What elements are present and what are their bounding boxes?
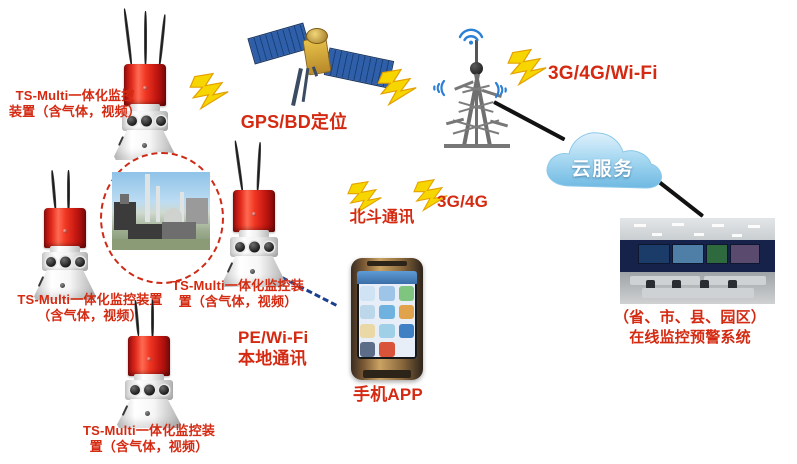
video-wall-panel	[706, 244, 728, 264]
ceiling-light	[732, 234, 742, 237]
app-icon[interactable]	[399, 305, 415, 319]
ceiling-light	[672, 223, 684, 226]
app-icon[interactable]	[360, 286, 376, 300]
solar-panel-left	[247, 23, 310, 65]
ceiling-light	[694, 233, 704, 236]
sensor-port-icon	[130, 385, 140, 395]
cloud-service-icon: 云服务	[538, 120, 668, 194]
tower-base	[444, 144, 510, 148]
antenna-icon	[256, 142, 262, 192]
petrochemical-plant-photo	[112, 172, 210, 250]
app-icon[interactable]	[379, 324, 395, 338]
bolt-icon-satellite-to-tower	[378, 68, 424, 106]
plant-chimney	[156, 186, 160, 222]
satellite-dish-icon	[306, 28, 328, 44]
signal-wave-left-icon	[428, 78, 450, 98]
label-device-bottom: TS-Multi一体化监控装 置（含气体，视频）	[68, 423, 230, 455]
plant-structure	[186, 198, 208, 224]
sensor-port-icon	[249, 242, 260, 253]
ts-multi-device-1	[108, 8, 180, 160]
operator-chair	[672, 280, 681, 288]
sensor-port-icon	[156, 116, 166, 126]
device-keypad[interactable]	[363, 370, 412, 377]
label-3g-4g-wifi: 3G/4G/Wi-Fi	[548, 62, 748, 85]
label-gps-bd: GPS/BD定位	[224, 112, 364, 134]
sensor-port-icon	[264, 242, 274, 252]
antenna-icon	[134, 300, 140, 336]
sensor-port-icon	[159, 385, 169, 395]
app-icon[interactable]	[360, 305, 376, 319]
plant-structure	[120, 194, 129, 204]
plant-chimney	[145, 174, 150, 222]
operator-desk	[642, 288, 754, 298]
operator-chair	[728, 280, 737, 288]
label-phone-app: 手机APP	[336, 385, 440, 406]
satellite-arm	[302, 68, 310, 102]
screen-status-bar	[357, 271, 416, 283]
ts-multi-device-3	[218, 140, 290, 288]
video-wall-panel	[638, 244, 670, 264]
tower-leg	[475, 74, 478, 148]
monitoring-control-room-photo	[620, 218, 775, 304]
device-sensor-collar	[125, 380, 173, 400]
operator-desk	[630, 276, 700, 285]
satellite-icon	[248, 14, 398, 110]
app-icon[interactable]	[379, 342, 395, 356]
operator-chair	[700, 280, 709, 288]
bolt-icon-device-to-satellite	[190, 72, 236, 110]
label-device-top-left: TS-Multi一体化监控 装置（含气体，视频）	[0, 88, 150, 120]
antenna-icon	[234, 140, 244, 192]
plant-structure	[162, 222, 196, 240]
sensor-port-icon	[235, 242, 245, 252]
sensor-port-icon	[144, 385, 155, 396]
base-dot-icon	[145, 411, 150, 416]
ceiling-light	[712, 224, 724, 227]
app-icon[interactable]	[379, 286, 395, 300]
iot-architecture-diagram: TS-Multi一体化监控 装置（含气体，视频） TS-Multi一体化监控装置…	[0, 0, 797, 464]
antenna-icon	[123, 8, 133, 66]
app-icon[interactable]	[399, 286, 415, 300]
base-dot-icon	[60, 283, 65, 288]
cloud-label: 云服务	[538, 154, 668, 181]
app-icon[interactable]	[399, 324, 415, 338]
sensor-port-icon	[46, 257, 56, 267]
signal-wave-top-icon	[456, 24, 486, 44]
label-3g-4g: 3G/4G	[437, 192, 527, 213]
sensor-port-icon	[75, 257, 85, 267]
device-sensor-collar	[230, 237, 278, 257]
ts-multi-device-2	[30, 170, 102, 302]
device-speaker	[367, 261, 407, 266]
antenna-icon	[158, 14, 166, 66]
ceiling-light	[652, 233, 662, 236]
app-icon[interactable]	[379, 305, 395, 319]
antenna-icon	[51, 170, 57, 210]
label-control-center: （省、市、县、园区） 在线监控预警系统	[588, 308, 792, 349]
ts-multi-device-4	[113, 300, 185, 428]
antenna-icon	[151, 300, 154, 338]
operator-chair	[646, 280, 655, 288]
device-body	[233, 190, 275, 232]
control-room-ceiling	[620, 218, 775, 240]
antenna-icon	[67, 170, 70, 212]
ceiling-light	[634, 224, 646, 227]
video-wall-panel	[730, 244, 760, 264]
device-sensor-collar	[42, 252, 88, 271]
sensor-port-icon	[60, 256, 71, 267]
label-local-comm: PE/Wi-Fi 本地通讯	[238, 328, 368, 369]
base-dot-icon	[142, 143, 147, 148]
antenna-icon	[144, 11, 147, 66]
device-body	[44, 208, 86, 248]
ceiling-light	[748, 225, 760, 228]
base-dot-icon	[250, 269, 255, 274]
device-body	[128, 336, 170, 376]
video-wall-panel	[672, 244, 704, 264]
plant-ground	[112, 239, 210, 250]
